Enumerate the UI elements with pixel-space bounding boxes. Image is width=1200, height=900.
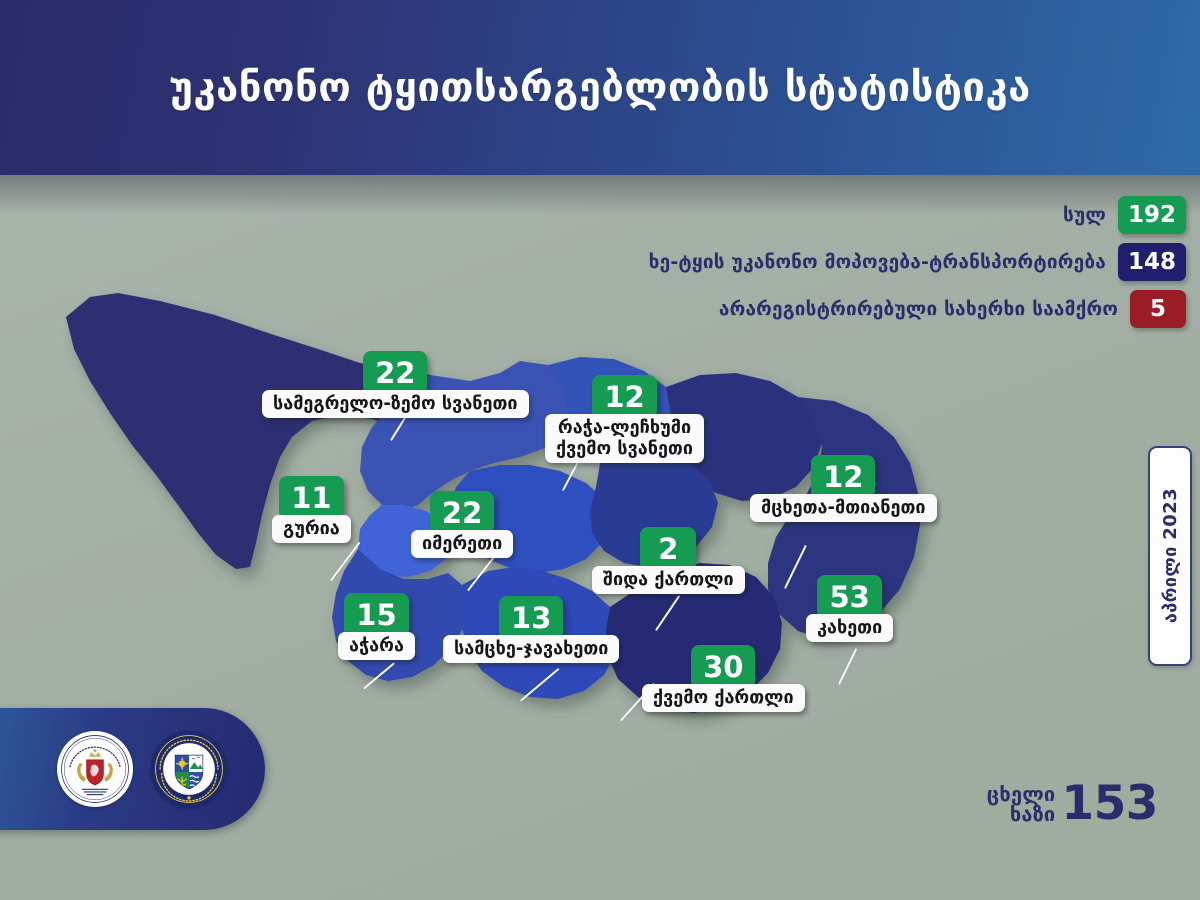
page-header: უკანონო ტყითსარგებლობის სტატისტიკა (0, 0, 1200, 175)
marker-value-samtskhe-javakheti: 13 (499, 596, 563, 640)
legend-row-illegal-logging-transport: ხე-ტყის უკანონო მოპოვება-ტრანსპორტირება … (649, 243, 1186, 281)
marker-label-imereti: იმერეთი (411, 530, 513, 558)
hotline-number: 153 (1061, 782, 1158, 827)
marker-value-imereti: 22 (430, 491, 494, 535)
map-marker-kakheti[interactable]: 53 კახეთი (806, 575, 893, 642)
marker-value-shida-kartli: 2 (640, 527, 696, 571)
marker-value-racha-lechkhumi: 12 (592, 375, 656, 419)
marker-label-kvemo-kartli: ქვემო ქართლი (642, 684, 805, 712)
page-title: უკანონო ტყითსარგებლობის სტატისტიკა (169, 65, 1031, 111)
environmental-supervision-department-emblem (151, 731, 227, 807)
department-emblem-svg (151, 731, 227, 807)
map-marker-mtskheta-mtianeti[interactable]: 12 მცხეთა-მთიანეთი (750, 455, 937, 522)
ministry-of-environmental-protection-and-agriculture-emblem (57, 731, 133, 807)
legend-row-unregistered-sawmill: არარეგისტრირებული სახერხი საამქრო 5 (719, 290, 1186, 328)
marker-label-guria: გურია (272, 515, 351, 543)
legend-label-unregistered-sawmill: არარეგისტრირებული სახერხი საამქრო (719, 298, 1118, 320)
map-marker-imereti[interactable]: 22 იმერეთი (411, 491, 513, 558)
map-marker-adjara[interactable]: 15 აჭარა (338, 593, 415, 660)
date-tab: აპრილი 2023 (1148, 446, 1192, 666)
legend-value-total: 192 (1118, 196, 1186, 234)
map-marker-kvemo-kartli[interactable]: 30 ქვემო ქართლი (642, 645, 805, 712)
marker-value-kvemo-kartli: 30 (691, 645, 755, 689)
marker-label-shida-kartli: შიდა ქართლი (592, 566, 745, 594)
legend-row-total: სულ 192 (1063, 196, 1186, 234)
hotline-line2: ხაზი (987, 804, 1056, 824)
marker-label-samegrelo-zemo-svaneti: სამეგრელო-ზემო სვანეთი (262, 390, 529, 418)
legend-value-unregistered-sawmill: 5 (1130, 290, 1186, 328)
ministry-emblem-svg (57, 731, 133, 807)
marker-label-adjara: აჭარა (338, 632, 415, 660)
marker-value-kakheti: 53 (817, 575, 881, 619)
hotline-line1: ცხელი (987, 784, 1056, 804)
hotline-words: ცხელი ხაზი (987, 784, 1056, 825)
map-marker-shida-kartli[interactable]: 2 შიდა ქართლი (592, 527, 745, 594)
marker-value-mtskheta-mtianeti: 12 (811, 455, 875, 499)
marker-label-racha-lechkhumi: რაჭა-ლეჩხუმი ქვემო სვანეთი (545, 414, 704, 463)
footer-logo-pill (0, 708, 265, 830)
date-tab-label: აპრილი 2023 (1160, 488, 1181, 623)
map-marker-samtskhe-javakheti[interactable]: 13 სამცხე-ჯავახეთი (443, 596, 619, 663)
legend-label-total: სულ (1063, 204, 1106, 226)
legend-value-illegal-logging-transport: 148 (1118, 243, 1186, 281)
legend: სულ 192 ხე-ტყის უკანონო მოპოვება-ტრანსპო… (649, 196, 1186, 328)
marker-value-adjara: 15 (344, 593, 408, 637)
marker-label-samtskhe-javakheti: სამცხე-ჯავახეთი (443, 635, 619, 663)
hotline: ცხელი ხაზი 153 (987, 782, 1158, 827)
map-marker-samegrelo-zemo-svaneti[interactable]: 22 სამეგრელო-ზემო სვანეთი (262, 351, 529, 418)
marker-value-guria: 11 (279, 476, 343, 520)
marker-label-mtskheta-mtianeti: მცხეთა-მთიანეთი (750, 494, 937, 522)
marker-value-samegrelo-zemo-svaneti: 22 (363, 351, 427, 395)
marker-label-kakheti: კახეთი (806, 614, 893, 642)
legend-label-illegal-logging-transport: ხე-ტყის უკანონო მოპოვება-ტრანსპორტირება (649, 251, 1106, 273)
map-marker-guria[interactable]: 11 გურია (272, 476, 351, 543)
infographic-page: უკანონო ტყითსარგებლობის სტატისტიკა (0, 0, 1200, 900)
map-marker-racha-lechkhumi[interactable]: 12 რაჭა-ლეჩხუმი ქვემო სვანეთი (545, 375, 704, 463)
